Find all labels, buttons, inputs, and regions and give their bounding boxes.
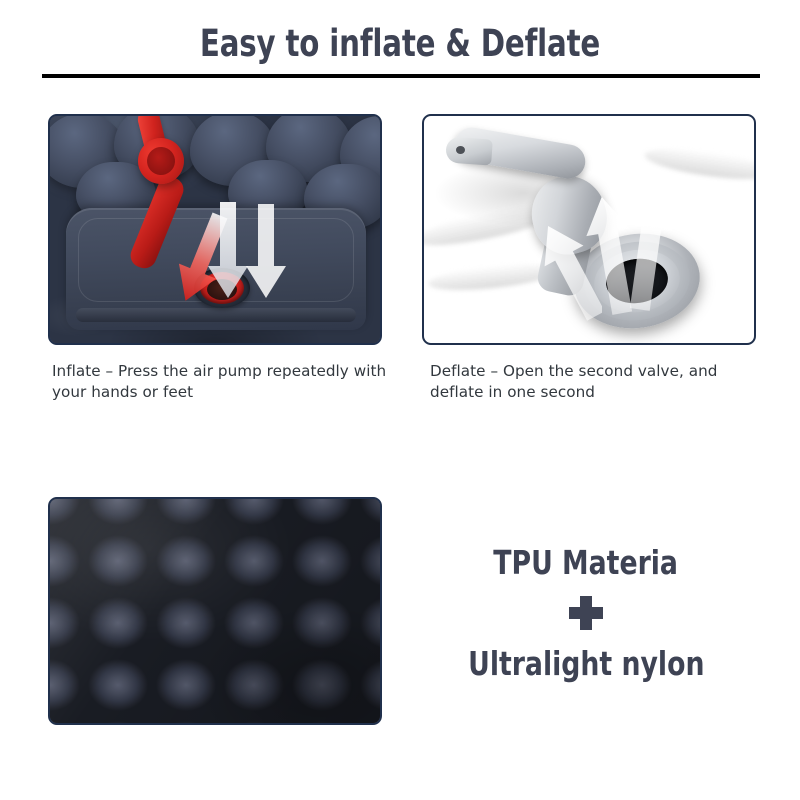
deflate-arrow-3 <box>620 188 676 314</box>
deflate-valve-photo <box>424 116 754 343</box>
quilted-texture-photo <box>50 499 380 723</box>
texture-photo-panel <box>48 497 382 725</box>
inflate-photo-panel <box>48 114 382 345</box>
deflate-photo-panel <box>422 114 756 345</box>
material-callout: TPU Materia Ultralight nylon <box>406 505 766 720</box>
inflate-caption: Inflate – Press the air pump repeatedly … <box>52 361 392 403</box>
material-secondary-label: Ultralight nylon <box>468 644 704 683</box>
page-title: Easy to inflate & Deflate <box>48 22 752 65</box>
valve-tab-hole <box>456 146 465 154</box>
inflate-arrow-white-2 <box>244 204 290 304</box>
gray-valve-pull-tab <box>445 136 493 165</box>
title-divider <box>42 74 760 78</box>
mat-bump-row <box>50 116 380 196</box>
pillow-fold <box>76 308 356 322</box>
material-primary-label: TPU Materia <box>494 543 679 582</box>
quilt-lighting-sheen <box>50 499 380 723</box>
inflate-valve-photo <box>50 116 380 343</box>
header: Easy to inflate & Deflate <box>0 0 800 86</box>
plus-icon <box>569 596 603 630</box>
deflate-caption: Deflate – Open the second valve, and def… <box>430 361 760 403</box>
